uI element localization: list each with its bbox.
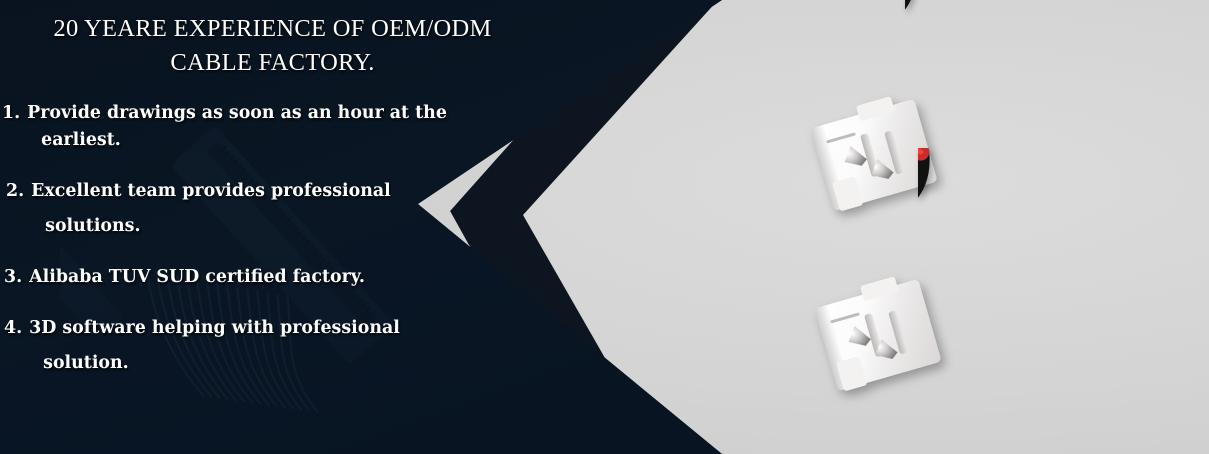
- page-title: 20 YEARE EXPERIENCE OF OEM/ODM CABLE FAC…: [0, 12, 545, 80]
- list-item-line-1: 3D software helping with professional: [29, 318, 400, 338]
- promo-banner: 20 YEARE EXPERIENCE OF OEM/ODM CABLE FAC…: [0, 0, 1209, 454]
- list-item-number: 3.: [4, 264, 22, 291]
- headline-line-2: CABLE FACTORY.: [0, 46, 545, 80]
- list-item-text: Alibaba TUV SUD certified factory.: [29, 264, 560, 291]
- list-item-line-1: Excellent team provides professional: [31, 181, 391, 201]
- list-item: 4. 3D software helping with professional…: [0, 315, 560, 377]
- list-item-line-1: Alibaba TUV SUD certified factory.: [29, 267, 365, 287]
- list-item-number: 4.: [4, 315, 22, 342]
- list-item-number: 1.: [2, 100, 20, 127]
- list-item-line-2: earliest.: [27, 127, 560, 154]
- list-item-line-1: Provide drawings as soon as an hour at t…: [27, 103, 447, 123]
- list-item-text: Provide drawings as soon as an hour at t…: [27, 100, 560, 154]
- list-item-line-2: solution.: [29, 350, 560, 377]
- headline-line-1: 20 YEARE EXPERIENCE OF OEM/ODM: [53, 15, 491, 42]
- list-item: 3. Alibaba TUV SUD certified factory.: [0, 264, 560, 291]
- list-item-number: 2.: [6, 178, 24, 205]
- list-item-text: 3D software helping with professional so…: [29, 315, 560, 377]
- list-item: 1. Provide drawings as soon as an hour a…: [0, 100, 560, 154]
